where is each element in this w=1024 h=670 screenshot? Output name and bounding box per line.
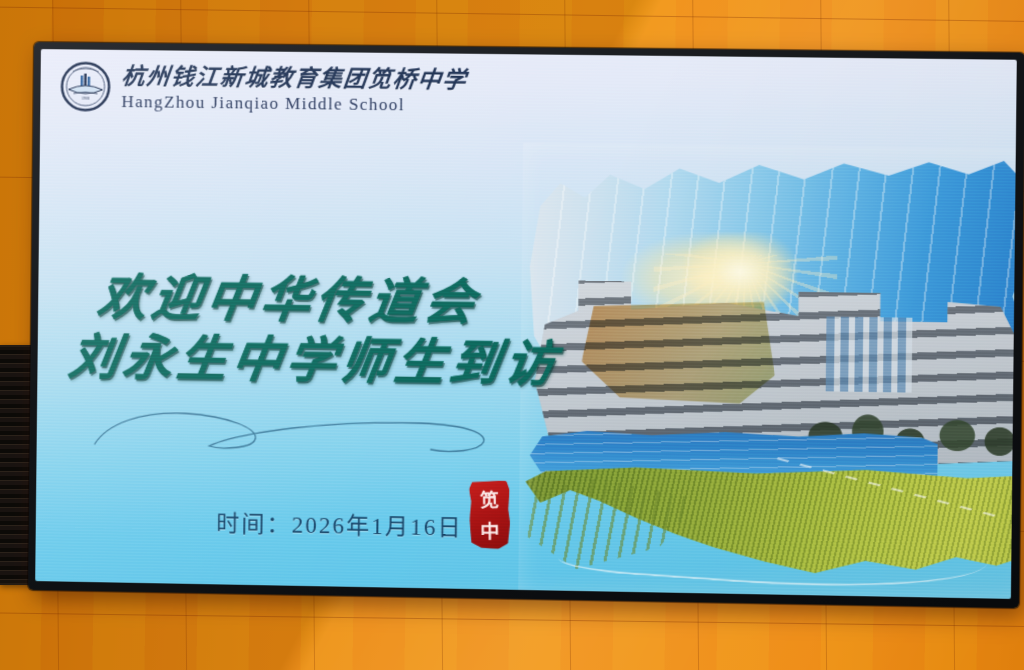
red-seal-stamp: 笕 中: [469, 480, 511, 549]
slide-header: 1908 杭州钱江新城教育集团笕桥中学 HangZhou Jianqiao Mi…: [60, 61, 467, 116]
photo-building-windows: [826, 316, 913, 392]
photo-sun-flare: [684, 232, 797, 312]
event-date: 时间：2026年1月16日: [216, 504, 463, 542]
seal-char-bottom: 中: [469, 517, 510, 545]
school-crest-logo: 1908: [60, 61, 111, 112]
photo-scene: 1908 杭州钱江新城教育集团笕桥中学 HangZhou Jianqiao Mi…: [0, 0, 1024, 670]
school-name-en: HangZhou Jianqiao Middle School: [121, 93, 467, 114]
svg-text:1908: 1908: [81, 96, 89, 101]
school-name-cn: 杭州钱江新城教育集团笕桥中学: [120, 64, 468, 91]
welcome-title: 欢迎中华传道会 刘永生中学师生到访: [97, 268, 560, 395]
photo-layers: [518, 143, 1017, 599]
display-bezel: 1908 杭州钱江新城教育集团笕桥中学 HangZhou Jianqiao Mi…: [28, 42, 1024, 608]
welcome-title-line2: 刘永生中学师生到访: [65, 327, 564, 394]
campus-photo-brush-collage: [518, 143, 1017, 599]
led-display-panel[interactable]: 1908 杭州钱江新城教育集团笕桥中学 HangZhou Jianqiao Mi…: [28, 42, 1024, 608]
calligraphic-flourish: [89, 400, 492, 463]
seal-char-top: 笕: [469, 486, 510, 514]
welcome-title-line1: 欢迎中华传道会: [94, 268, 565, 335]
display-screen[interactable]: 1908 杭州钱江新城教育集团笕桥中学 HangZhou Jianqiao Mi…: [35, 49, 1017, 599]
school-name-block: 杭州钱江新城教育集团笕桥中学 HangZhou Jianqiao Middle …: [121, 64, 467, 113]
